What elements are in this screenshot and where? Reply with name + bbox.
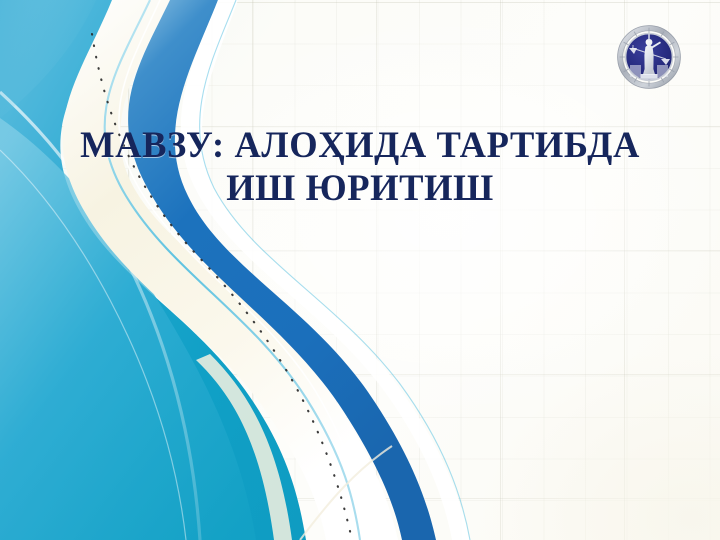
justice-emblem-logo: [617, 25, 681, 89]
title-line-2: ИШ ЮРИТИШ: [0, 167, 720, 210]
presentation-slide: МАВЗУ: АЛОҲИДА ТАРТИБДА ИШ ЮРИТИШ: [0, 0, 720, 540]
title-line-1: МАВЗУ: АЛОҲИДА ТАРТИБДА: [0, 124, 720, 167]
decorative-wave-artwork: [0, 0, 720, 540]
slide-title: МАВЗУ: АЛОҲИДА ТАРТИБДА ИШ ЮРИТИШ: [0, 124, 720, 209]
